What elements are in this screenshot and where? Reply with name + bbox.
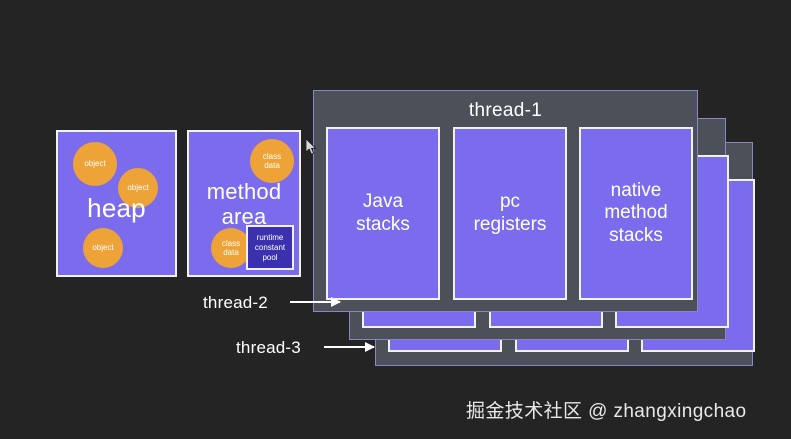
method-area-region[interactable]: class data method area class data runtim… [187, 130, 301, 277]
thread-1-native-method-stacks-slot[interactable]: native method stacks [579, 127, 693, 300]
runtime-constant-pool-box[interactable]: runtime constant pool [246, 225, 294, 270]
heap-label: heap [58, 194, 175, 223]
diagram-canvas: thread-1 Java stacks pc registers native… [0, 0, 791, 439]
mouse-cursor-icon [306, 139, 318, 156]
thread-1-title: thread-1 [314, 100, 697, 122]
thread-1-pc-registers-slot[interactable]: pc registers [453, 127, 567, 300]
heap-object-bubble-3: object [83, 228, 123, 268]
thread-2-pointer-label: thread-2 [203, 293, 268, 313]
method-area-class-data-bubble-2: class data [211, 228, 251, 268]
heap-region[interactable]: object object object heap [56, 130, 177, 277]
thread-3-pointer-label: thread-3 [236, 338, 301, 358]
thread-panel-thread-1[interactable]: thread-1 Java stacks pc registers native… [313, 90, 698, 312]
method-area-class-data-bubble-1: class data [250, 139, 294, 183]
thread-1-java-stacks-slot[interactable]: Java stacks [326, 127, 440, 300]
thread-2-arrow-icon [290, 301, 340, 303]
heap-object-bubble-1: object [73, 142, 117, 186]
thread-3-arrow-icon [324, 346, 374, 348]
method-area-label: method area [189, 180, 299, 229]
watermark-text: 掘金技术社区 @ zhangxingchao [466, 396, 746, 423]
